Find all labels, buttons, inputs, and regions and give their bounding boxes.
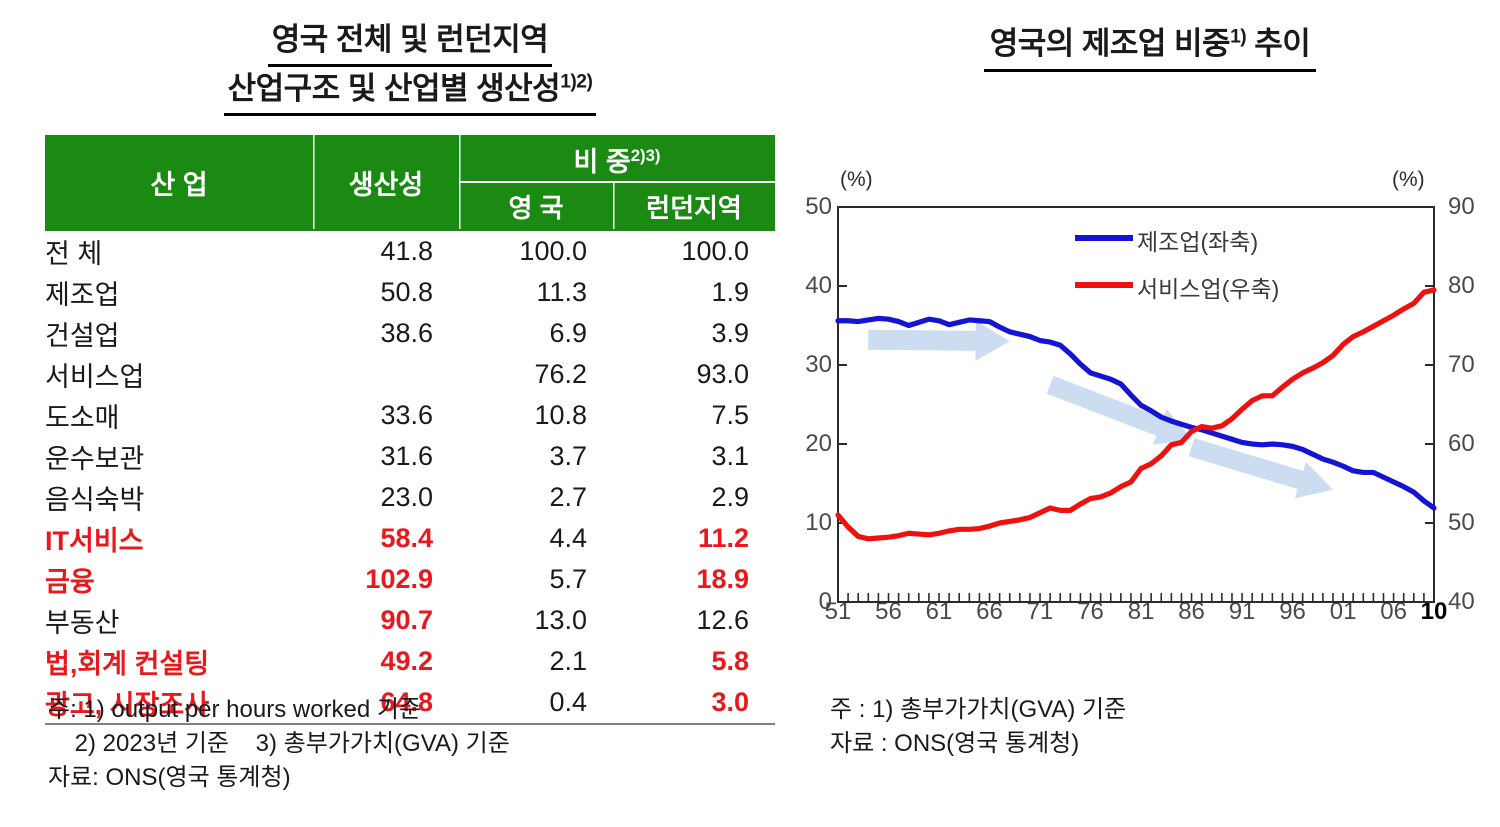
cell-productivity: 38.6 (313, 313, 459, 354)
header-uk: 영 국 (459, 183, 613, 230)
industry-table: 산 업 생산성 비 중2)3) 영 국 런던지역 전 체41.8100.0100… (45, 135, 775, 725)
table-panel: 영국 전체 및 런던지역 산업구조 및 산업별 생산성1)2) 산 업 생산성 … (0, 0, 800, 827)
cell-london-share: 2.9 (613, 477, 775, 518)
cell-london-share: 100.0 (613, 230, 775, 272)
cell-industry: 법,회계 컨설팅 (45, 641, 313, 682)
table-row: 전 체41.8100.0100.0 (45, 230, 775, 272)
cell-productivity: 90.7 (313, 600, 459, 641)
cell-london-share: 18.9 (613, 559, 775, 600)
cell-industry: 음식숙박 (45, 477, 313, 518)
cell-london-share: 3.1 (613, 436, 775, 477)
cell-productivity: 50.8 (313, 272, 459, 313)
cell-uk-share: 100.0 (459, 230, 613, 272)
cell-uk-share: 11.3 (459, 272, 613, 313)
table-title-footnote-marker: 1)2) (560, 72, 592, 93)
header-share-footnote-marker: 2)3) (631, 146, 661, 165)
chart-title-text: 영국의 제조업 비중 (990, 26, 1230, 61)
cell-uk-share: 3.7 (459, 436, 613, 477)
header-productivity: 생산성 (313, 135, 459, 230)
cell-industry: 운수보관 (45, 436, 313, 477)
cell-industry: 건설업 (45, 313, 313, 354)
table-row: 법,회계 컨설팅49.22.15.8 (45, 641, 775, 682)
cell-uk-share: 13.0 (459, 600, 613, 641)
legend-label: 서비스업(우축) (1137, 270, 1279, 304)
cell-industry: 전 체 (45, 230, 313, 272)
cell-london-share: 3.0 (613, 682, 775, 724)
cell-industry: IT서비스 (45, 518, 313, 559)
cell-industry: 부동산 (45, 600, 313, 641)
cell-uk-share: 4.4 (459, 518, 613, 559)
cell-productivity: 31.6 (313, 436, 459, 477)
cell-uk-share: 5.7 (459, 559, 613, 600)
table-row: 제조업50.811.31.9 (45, 272, 775, 313)
cell-industry: 도소매 (45, 395, 313, 436)
cell-uk-share: 2.7 (459, 477, 613, 518)
table-title: 영국 전체 및 런던지역 산업구조 및 산업별 생산성1)2) (40, 18, 780, 116)
header-share: 비 중2)3) (459, 135, 775, 183)
cell-industry: 제조업 (45, 272, 313, 313)
chart-title-footnote-marker: 1) (1230, 27, 1246, 48)
table-row: 운수보관31.63.73.1 (45, 436, 775, 477)
cell-productivity: 41.8 (313, 230, 459, 272)
cell-uk-share: 6.9 (459, 313, 613, 354)
table-row: IT서비스58.44.411.2 (45, 518, 775, 559)
table-row: 음식숙박23.02.72.9 (45, 477, 775, 518)
chart-title: 영국의 제조업 비중1) 추이 (800, 22, 1500, 72)
cell-uk-share: 76.2 (459, 354, 613, 395)
table-notes: 주: 1) output per hours worked 기준 2) 2023… (48, 693, 510, 795)
legend-label: 제조업(좌축) (1137, 223, 1258, 257)
cell-productivity: 58.4 (313, 518, 459, 559)
cell-london-share: 11.2 (613, 518, 775, 559)
cell-london-share: 5.8 (613, 641, 775, 682)
cell-uk-share: 10.8 (459, 395, 613, 436)
header-industry: 산 업 (45, 135, 313, 230)
cell-uk-share: 2.1 (459, 641, 613, 682)
chart-panel: 영국의 제조업 비중1) 추이 (%) (%) 01020304050 4050… (800, 0, 1500, 827)
cell-productivity: 49.2 (313, 641, 459, 682)
table-header: 산 업 생산성 비 중2)3) 영 국 런던지역 (45, 135, 775, 230)
table-row: 도소매33.610.87.5 (45, 395, 775, 436)
chart-title-tail: 추이 (1246, 26, 1310, 61)
cell-london-share: 12.6 (613, 600, 775, 641)
cell-london-share: 7.5 (613, 395, 775, 436)
table-body: 전 체41.8100.0100.0제조업50.811.31.9건설업38.66.… (45, 230, 775, 724)
chart-area: (%) (%) 01020304050 405060708090 5156616… (800, 180, 1500, 650)
cell-productivity: 33.6 (313, 395, 459, 436)
cell-industry: 금융 (45, 559, 313, 600)
chart-notes: 주 : 1) 총부가가치(GVA) 기준 자료 : ONS(영국 통계청) (830, 693, 1126, 761)
trend-arrows (868, 321, 1333, 498)
cell-productivity: 102.9 (313, 559, 459, 600)
cell-productivity: 23.0 (313, 477, 459, 518)
cell-london-share: 1.9 (613, 272, 775, 313)
cell-london-share: 3.9 (613, 313, 775, 354)
table-row: 금융102.95.718.9 (45, 559, 775, 600)
cell-industry: 서비스업 (45, 354, 313, 395)
table-title-line1: 영국 전체 및 런던지역 (268, 18, 553, 67)
table-row: 서비스업76.293.0 (45, 354, 775, 395)
header-london: 런던지역 (613, 183, 775, 230)
table-row: 부동산90.713.012.6 (45, 600, 775, 641)
cell-london-share: 93.0 (613, 354, 775, 395)
cell-productivity (313, 354, 459, 395)
table-row: 건설업38.66.93.9 (45, 313, 775, 354)
table-title-line2: 산업구조 및 산업별 생산성 (228, 71, 561, 106)
